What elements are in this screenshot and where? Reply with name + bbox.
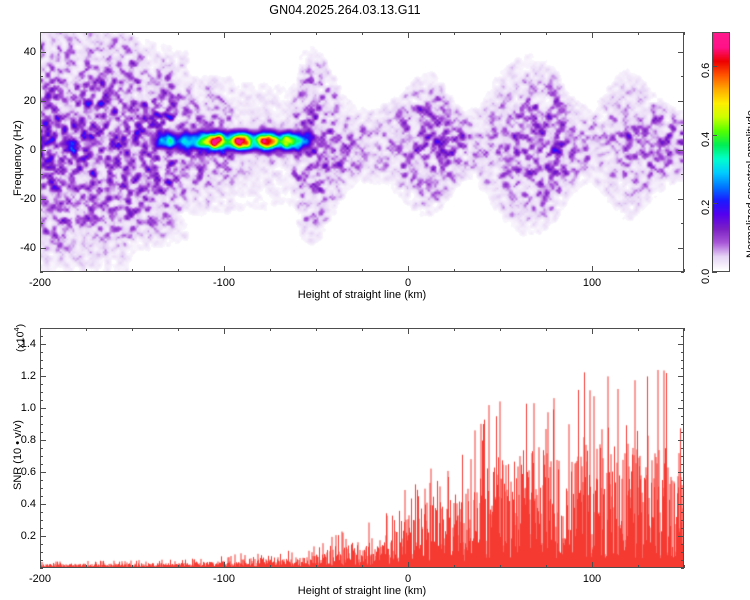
ytick-major-right [678,52,684,53]
ytick-major-right [678,408,684,409]
xtick-minor-top [638,328,639,331]
ytick-minor-right [681,174,684,175]
xtick-minor [500,565,501,568]
ytick-major-right [678,504,684,505]
ytick-major [40,536,46,537]
xtick-minor-top [132,32,133,35]
xtick-minor [454,269,455,272]
xtick-minor-top [454,32,455,35]
ytick-minor-right [681,392,684,393]
colorbar-tick [712,135,717,136]
multiplier-exponent: 4 [12,327,21,331]
xtick-minor [684,565,685,568]
xtick-minor-top [638,32,639,35]
ytick-minor [40,520,43,521]
ytick-minor-right [681,488,684,489]
ytick-label: 1.0 [10,402,36,414]
xtick-minor-top [86,32,87,35]
ytick-minor-right [681,544,684,545]
xtick-label: -200 [29,573,51,585]
ytick-label: -40 [10,242,36,254]
ytick-minor [40,568,43,569]
snr-canvas [41,329,683,567]
ytick-major-right [678,536,684,537]
xtick-minor [638,565,639,568]
xtick-minor-top [316,328,317,331]
ytick-label: 0.2 [10,530,36,542]
ytick-minor-right [681,272,684,273]
xtick-minor-top [316,32,317,35]
ytick-major [40,52,46,53]
xtick-minor [270,269,271,272]
ytick-minor-right [681,512,684,513]
xtick-minor-top [132,328,133,331]
ytick-label: 40 [10,46,36,58]
xtick-major [592,266,593,272]
ytick-minor-right [681,456,684,457]
xtick-major-top [408,32,409,38]
ytick-minor [40,223,43,224]
xtick-minor [362,269,363,272]
xtick-minor [546,269,547,272]
ytick-major [40,472,46,473]
xtick-major-top [40,32,41,38]
ytick-major-right [678,376,684,377]
xtick-minor [178,565,179,568]
xtick-minor [684,269,685,272]
colorbar-tick [712,203,717,204]
xtick-minor [178,269,179,272]
figure-title: GN04.2025.264.03.13.G11 [0,3,690,17]
colorbar [712,32,730,272]
ytick-minor-right [681,360,684,361]
xtick-minor-top [500,328,501,331]
xtick-major [408,562,409,568]
ytick-minor-right [681,552,684,553]
snr-yaxis-label: SNR (10 • v/v) [12,420,24,490]
ytick-major-right [678,472,684,473]
ytick-minor-right [681,416,684,417]
xtick-minor-top [454,328,455,331]
xtick-label: 0 [405,277,411,289]
snr-plot-area [40,328,684,568]
colorbar-tick-label: 0.4 [700,132,712,147]
xtick-major-top [592,328,593,334]
snr-xaxis-label: Height of straight line (km) [298,585,426,597]
ytick-minor-right [681,368,684,369]
ytick-minor [40,560,43,561]
xtick-label: 100 [583,573,601,585]
xtick-minor-top [500,32,501,35]
ytick-major [40,101,46,102]
colorbar-tick-label: 0.0 [700,269,712,284]
ytick-major-right [678,248,684,249]
xtick-minor-top [546,32,547,35]
xtick-minor [500,269,501,272]
ytick-minor [40,392,43,393]
ytick-minor [40,174,43,175]
multiplier-prefix: (x10 [15,332,27,352]
xtick-major [224,562,225,568]
ytick-major [40,440,46,441]
xtick-minor [362,565,363,568]
xtick-minor [316,269,317,272]
xtick-minor [638,269,639,272]
colorbar-gradient [713,33,729,271]
xtick-minor-top [546,328,547,331]
xtick-label: -200 [29,277,51,289]
xtick-major-top [592,32,593,38]
xtick-minor-top [178,32,179,35]
xtick-label: 0 [405,573,411,585]
ytick-minor [40,368,43,369]
xtick-minor [86,565,87,568]
ytick-major [40,248,46,249]
ytick-label: 20 [10,95,36,107]
colorbar-tick-label: 0.6 [700,63,712,78]
ytick-minor-right [681,448,684,449]
ytick-minor [40,512,43,513]
xtick-minor [86,269,87,272]
ytick-minor-right [681,520,684,521]
ytick-minor [40,456,43,457]
xtick-major [408,266,409,272]
ytick-minor-right [681,125,684,126]
ytick-minor [40,488,43,489]
xtick-major [224,266,225,272]
xtick-minor [546,565,547,568]
xtick-minor [316,565,317,568]
ytick-major-right [678,344,684,345]
ytick-minor [40,125,43,126]
xtick-minor-top [362,328,363,331]
ytick-minor [40,328,43,329]
xtick-minor-top [684,32,685,35]
ytick-minor-right [681,568,684,569]
ytick-minor-right [681,480,684,481]
ytick-minor [40,360,43,361]
xtick-minor-top [86,328,87,331]
ytick-minor-right [681,352,684,353]
xtick-minor [132,565,133,568]
ytick-major [40,199,46,200]
ytick-minor [40,384,43,385]
spectrogram-canvas [41,33,683,271]
ytick-minor [40,544,43,545]
colorbar-tick-label: 0.2 [700,200,712,215]
ytick-minor-right [681,496,684,497]
ytick-minor [40,552,43,553]
ytick-minor [40,76,43,77]
ytick-major-right [678,199,684,200]
ytick-minor [40,400,43,401]
xtick-label: 100 [583,277,601,289]
spectrogram-xaxis-label: Height of straight line (km) [298,289,426,301]
ytick-minor-right [681,336,684,337]
ytick-major [40,150,46,151]
ytick-minor [40,416,43,417]
xtick-minor-top [270,32,271,35]
xtick-major-top [224,32,225,38]
figure-root: GN04.2025.264.03.13.G11 -200-1000100-40-… [0,0,750,600]
ytick-minor [40,464,43,465]
ytick-major-right [678,101,684,102]
ytick-minor-right [681,528,684,529]
ytick-label: 1.2 [10,370,36,382]
xtick-minor [270,565,271,568]
ytick-minor-right [681,424,684,425]
ytick-minor [40,496,43,497]
xtick-major [592,562,593,568]
multiplier-suffix: ) [15,324,27,328]
xtick-major-top [408,328,409,334]
ytick-major-right [678,440,684,441]
ytick-minor [40,352,43,353]
colorbar-tick [712,66,717,67]
colorbar-label: Normalized spectral amplitude [745,110,750,258]
ytick-minor-right [681,76,684,77]
ytick-minor [40,424,43,425]
ytick-minor-right [681,384,684,385]
ytick-minor-right [681,328,684,329]
xtick-minor-top [270,328,271,331]
ytick-minor [40,336,43,337]
snr-yaxis-multiplier: (x104) [12,324,27,352]
ytick-minor [40,272,43,273]
xtick-minor-top [178,328,179,331]
xtick-minor [454,565,455,568]
xtick-label: -100 [213,573,235,585]
ytick-minor-right [681,464,684,465]
xtick-minor-top [362,32,363,35]
xtick-major-top [224,328,225,334]
ytick-major [40,376,46,377]
ytick-major-right [678,150,684,151]
xtick-label: -100 [213,277,235,289]
ytick-minor [40,480,43,481]
spectrogram-plot-area [40,32,684,272]
ytick-minor [40,528,43,529]
xtick-minor [132,269,133,272]
ytick-major [40,344,46,345]
xtick-minor-top [684,328,685,331]
ytick-major [40,408,46,409]
ytick-label: 0.4 [10,498,36,510]
ytick-minor-right [681,432,684,433]
ytick-minor [40,432,43,433]
ytick-minor-right [681,223,684,224]
ytick-major [40,504,46,505]
ytick-minor [40,448,43,449]
spectrogram-yaxis-label: Frequency (Hz) [12,120,24,196]
ytick-minor-right [681,400,684,401]
ytick-minor-right [681,560,684,561]
colorbar-tick [712,272,717,273]
